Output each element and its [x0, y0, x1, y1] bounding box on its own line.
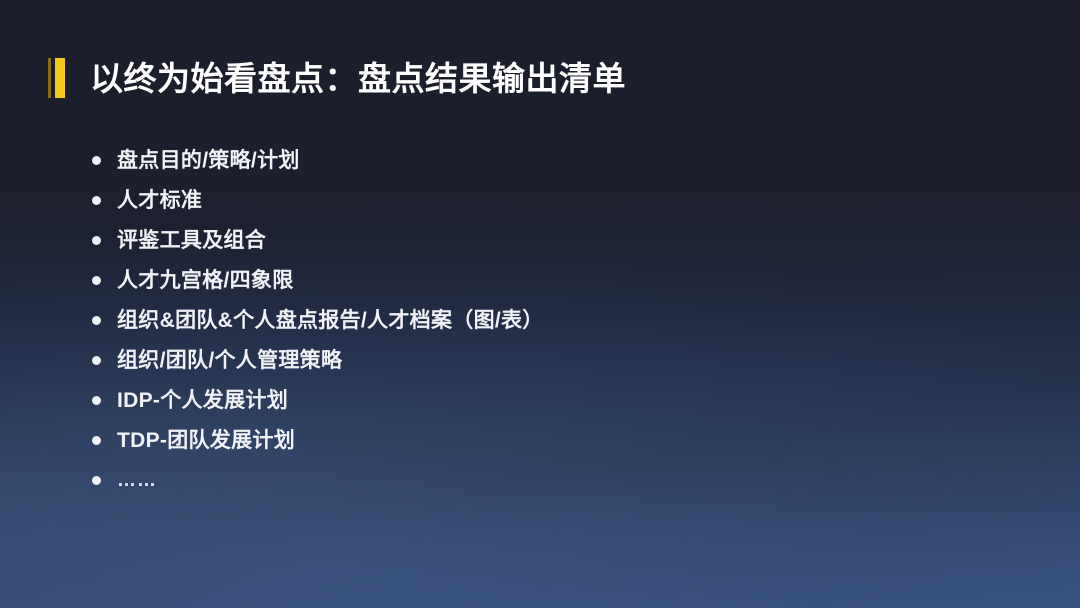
list-item: 人才九宫格/四象限 — [92, 260, 992, 300]
list-item: IDP-个人发展计划 — [92, 380, 992, 420]
page-title: 以终为始看盘点：盘点结果输出清单 — [90, 62, 626, 95]
accent-bar-wide — [55, 58, 65, 98]
list-item: 组织&团队&个人盘点报告/人才档案（图/表） — [92, 300, 992, 340]
bullet-dot-icon — [92, 356, 101, 365]
slide-canvas: 以终为始看盘点：盘点结果输出清单 盘点目的/策略/计划 人才标准 评鉴工具及组合… — [0, 0, 1080, 608]
list-item: …… — [92, 460, 992, 500]
list-item-label: 评鉴工具及组合 — [117, 230, 266, 251]
list-item: 组织/团队/个人管理策略 — [92, 340, 992, 380]
list-item-label: 人才标准 — [117, 190, 202, 211]
title-accent-bars — [48, 58, 65, 98]
list-item: 评鉴工具及组合 — [92, 220, 992, 260]
list-item-label: …… — [117, 471, 157, 490]
bullet-dot-icon — [92, 236, 101, 245]
bullet-dot-icon — [92, 196, 101, 205]
list-item: 盘点目的/策略/计划 — [92, 140, 992, 180]
list-item-label: 组织&团队&个人盘点报告/人才档案（图/表） — [117, 310, 544, 331]
list-item: TDP-团队发展计划 — [92, 420, 992, 460]
bullet-dot-icon — [92, 156, 101, 165]
bullet-dot-icon — [92, 276, 101, 285]
list-item-label: 盘点目的/策略/计划 — [117, 150, 300, 171]
list-item-label: 人才九宫格/四象限 — [117, 270, 294, 291]
bullet-dot-icon — [92, 316, 101, 325]
list-item-label: IDP-个人发展计划 — [117, 390, 288, 411]
bullet-dot-icon — [92, 396, 101, 405]
list-item-label: 组织/团队/个人管理策略 — [117, 350, 342, 371]
bullet-dot-icon — [92, 436, 101, 445]
list-item: 人才标准 — [92, 180, 992, 220]
bullet-list: 盘点目的/策略/计划 人才标准 评鉴工具及组合 人才九宫格/四象限 组织&团队&… — [92, 140, 992, 500]
slide-title-row: 以终为始看盘点：盘点结果输出清单 — [48, 52, 626, 104]
bullet-dot-icon — [92, 476, 101, 485]
list-item-label: TDP-团队发展计划 — [117, 430, 295, 451]
